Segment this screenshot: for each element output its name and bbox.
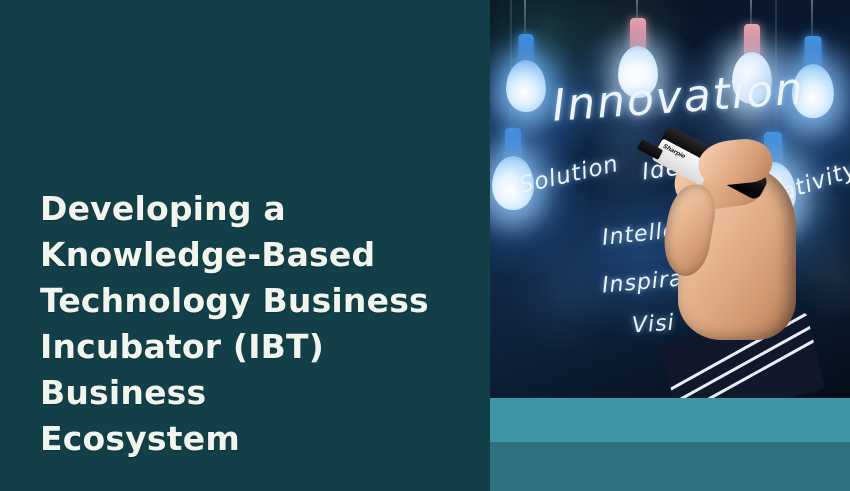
title-line-1: Developing a bbox=[40, 186, 470, 232]
title-line-5: Business bbox=[40, 370, 470, 416]
bulb-cord bbox=[811, 0, 813, 40]
bar-accent-light bbox=[490, 398, 850, 442]
left-text-panel: Developing a Knowledge-Based Technology … bbox=[0, 0, 491, 491]
page-title: Developing a Knowledge-Based Technology … bbox=[40, 186, 470, 462]
bulb-glass bbox=[506, 60, 546, 112]
handwritten-word-vision: Visi bbox=[631, 311, 675, 339]
bar-accent-dark bbox=[490, 442, 850, 491]
title-line-2: Knowledge-Based bbox=[40, 232, 470, 278]
hand-with-marker: Sharpie bbox=[672, 128, 850, 398]
handwritten-word-innovation: Innovation bbox=[551, 63, 807, 132]
title-line-3: Technology Business bbox=[40, 278, 470, 324]
title-line-6: Ecosystem bbox=[40, 416, 470, 462]
title-line-4: Incubator (IBT) bbox=[40, 324, 470, 370]
cover-photo: Innovation Solution Ideas Creativity Int… bbox=[490, 0, 850, 398]
bulb-cord bbox=[524, 0, 526, 38]
bokeh-blob bbox=[506, 242, 616, 352]
cover-canvas: Developing a Knowledge-Based Technology … bbox=[0, 0, 850, 491]
bulb-left-upper bbox=[504, 34, 548, 126]
